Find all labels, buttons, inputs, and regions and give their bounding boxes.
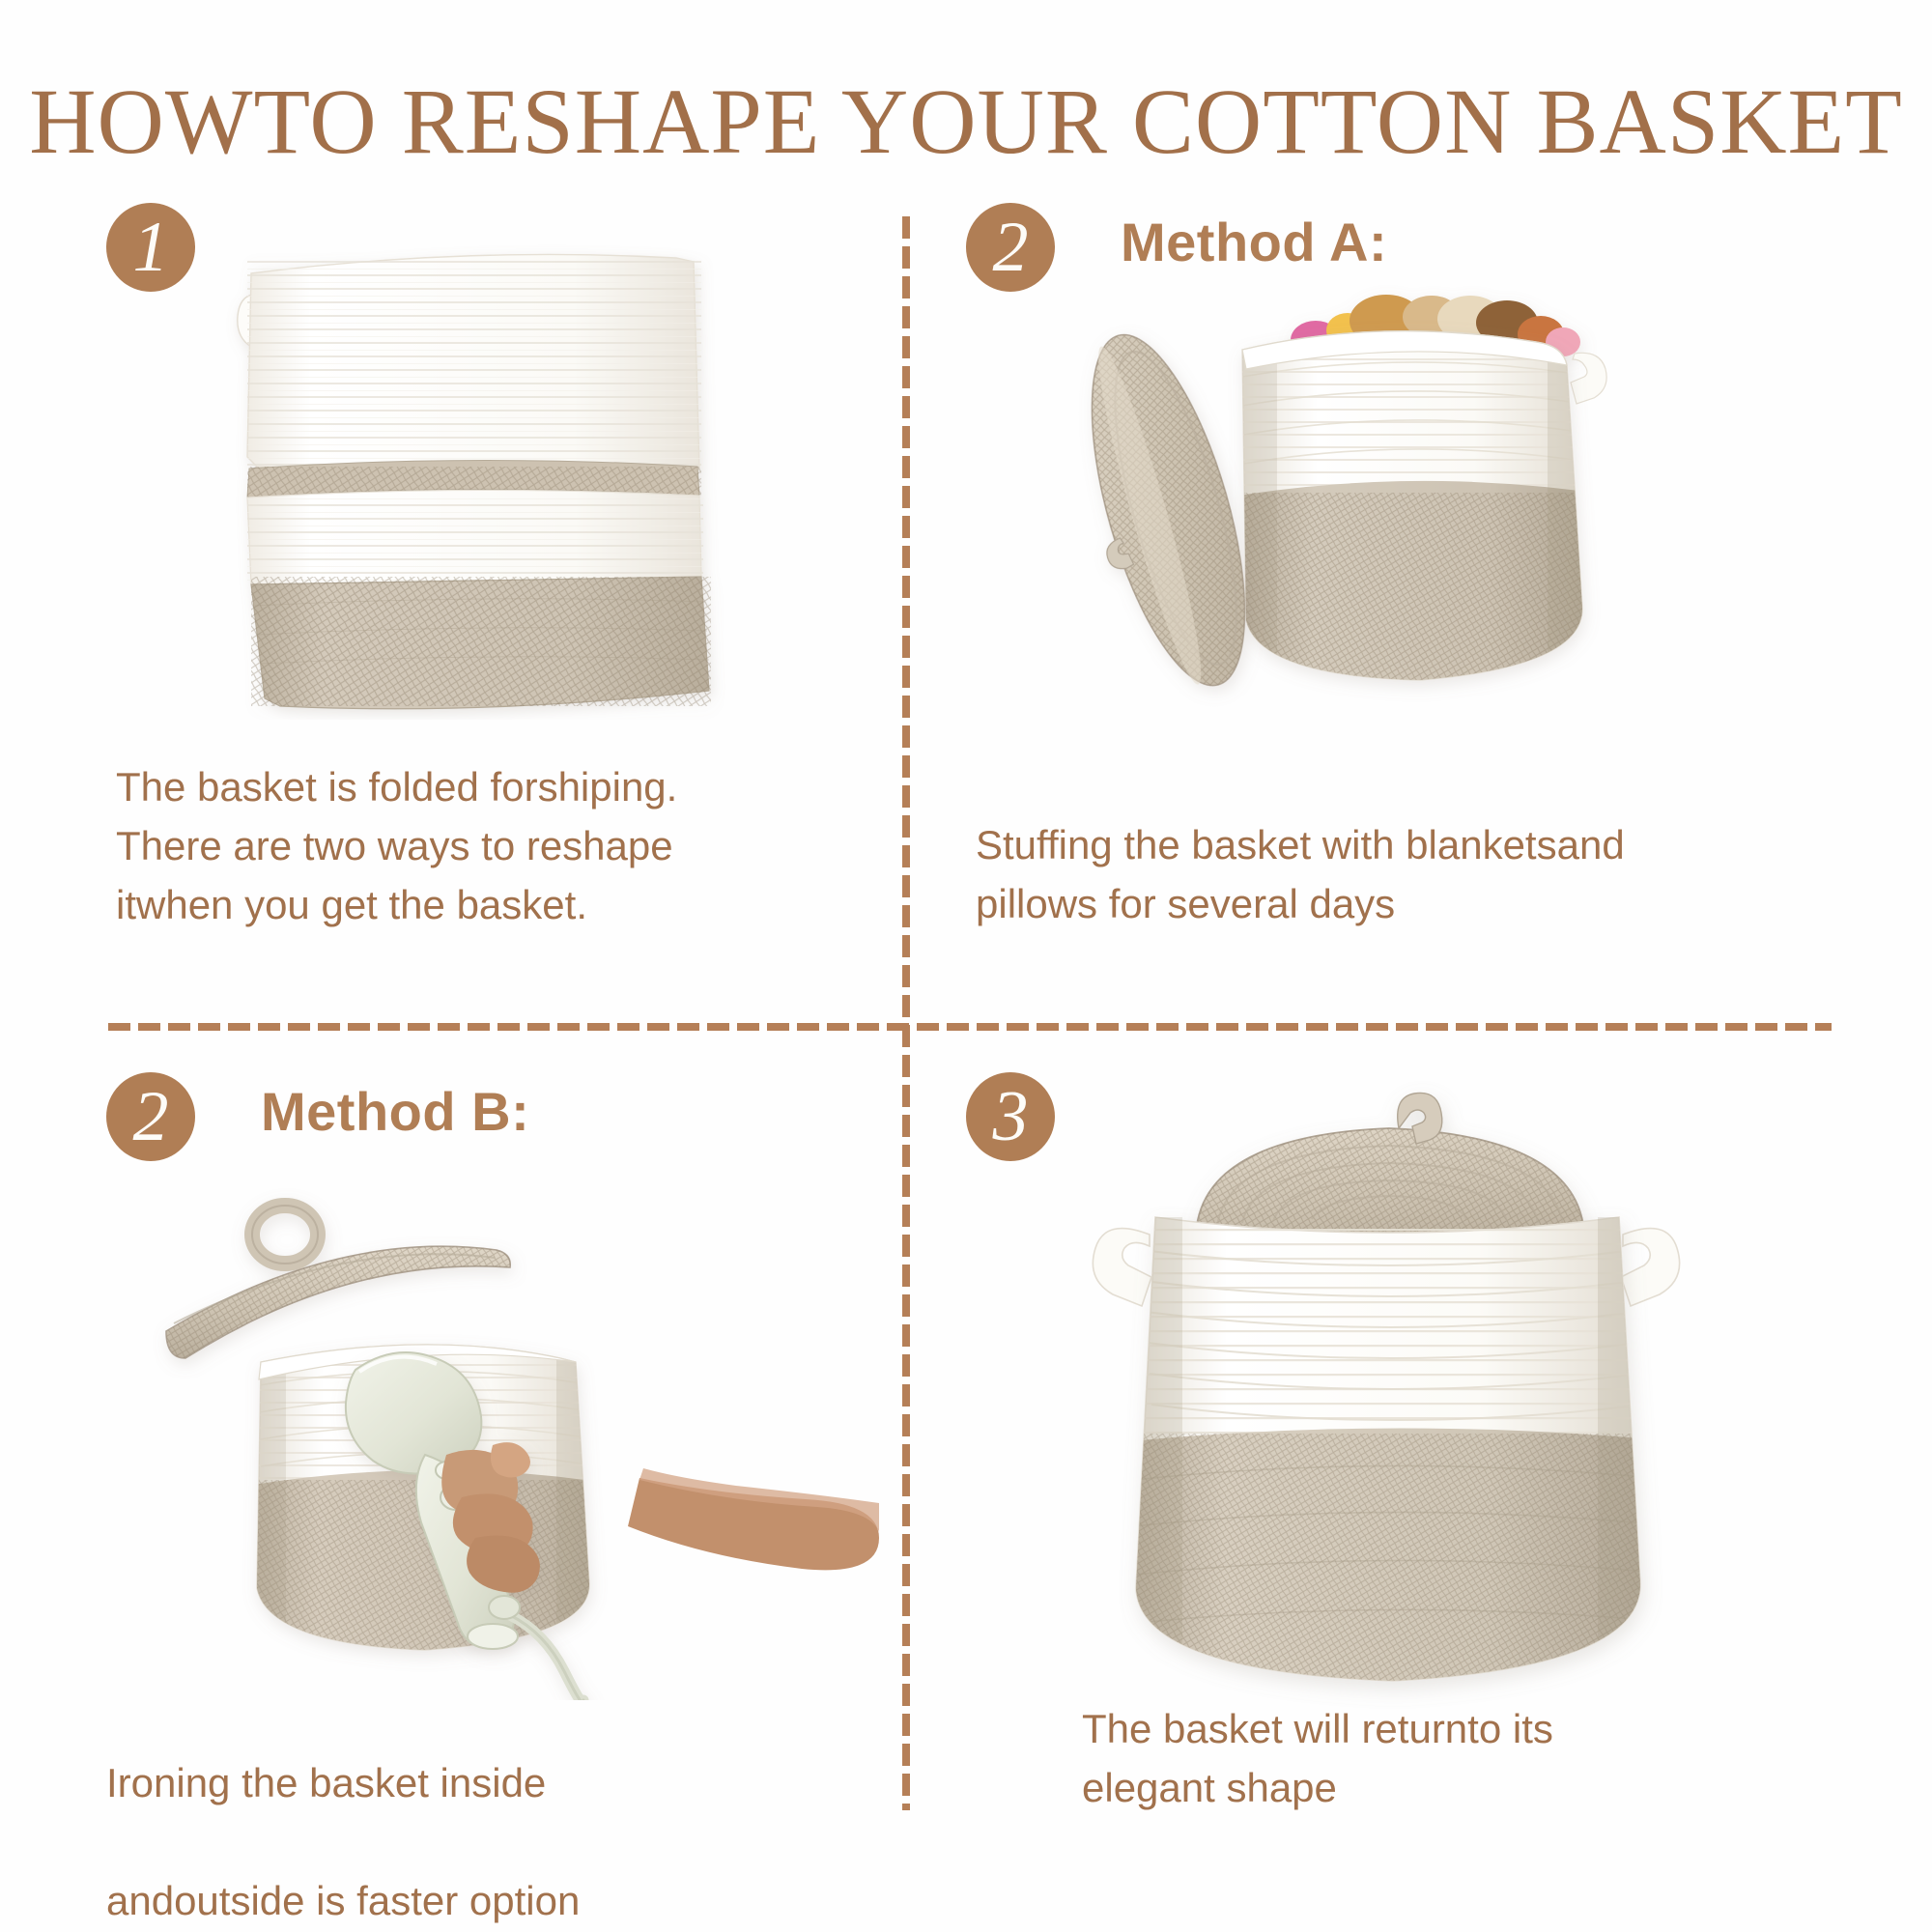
- basket-handle-right-2: [1621, 1229, 1680, 1306]
- step-number-badge-1: 1: [106, 203, 195, 292]
- basket-with-lid-off-illustration: [1053, 261, 1710, 744]
- panel-3-caption-line-2: andoutside is faster option: [106, 1878, 580, 1923]
- panel-2-caption: Stuffing the basket with blanketsand pil…: [976, 816, 1826, 934]
- basket-handle-left: [1093, 1229, 1151, 1306]
- reshaped-basket-svg: [1034, 1043, 1748, 1719]
- folded-basket-illustration: [222, 237, 763, 720]
- panel-4-caption: The basket will returnto its elegant sha…: [1082, 1700, 1758, 1818]
- page-title: HOWTO RESHAPE YOUR COTTON BASKET: [0, 75, 1932, 168]
- basket-lid-off-svg: [1053, 261, 1710, 744]
- vertical-dashed-divider: [902, 216, 910, 1810]
- panel-3-caption: Ironing the basket inside andoutside is …: [106, 1695, 705, 1931]
- basket-steaming-svg: [106, 1179, 879, 1700]
- step-number-badge-2b: 2: [106, 1072, 195, 1161]
- step-panel-2: 2 Method A:: [966, 203, 1835, 995]
- basket-lid-tilted: [166, 1206, 510, 1358]
- reshaped-basket-illustration: [1034, 1043, 1748, 1719]
- step-panel-1: 1: [106, 203, 879, 995]
- basket-steaming-illustration: [106, 1179, 879, 1700]
- step-number-badge-2a: 2: [966, 203, 1055, 292]
- hand-and-forearm: [628, 1468, 879, 1570]
- panel-3-caption-line-1: Ironing the basket inside: [106, 1760, 705, 1864]
- step-panel-3: 2 Method B:: [106, 1072, 879, 1835]
- basket-handle-right: [1571, 353, 1606, 404]
- step-panel-4: 3: [966, 1072, 1835, 1835]
- folded-basket-svg: [222, 237, 763, 720]
- method-b-label: Method B:: [261, 1080, 529, 1143]
- panel-1-caption: The basket is folded forshiping. There a…: [116, 758, 831, 935]
- horizontal-dashed-divider: [108, 1023, 1832, 1031]
